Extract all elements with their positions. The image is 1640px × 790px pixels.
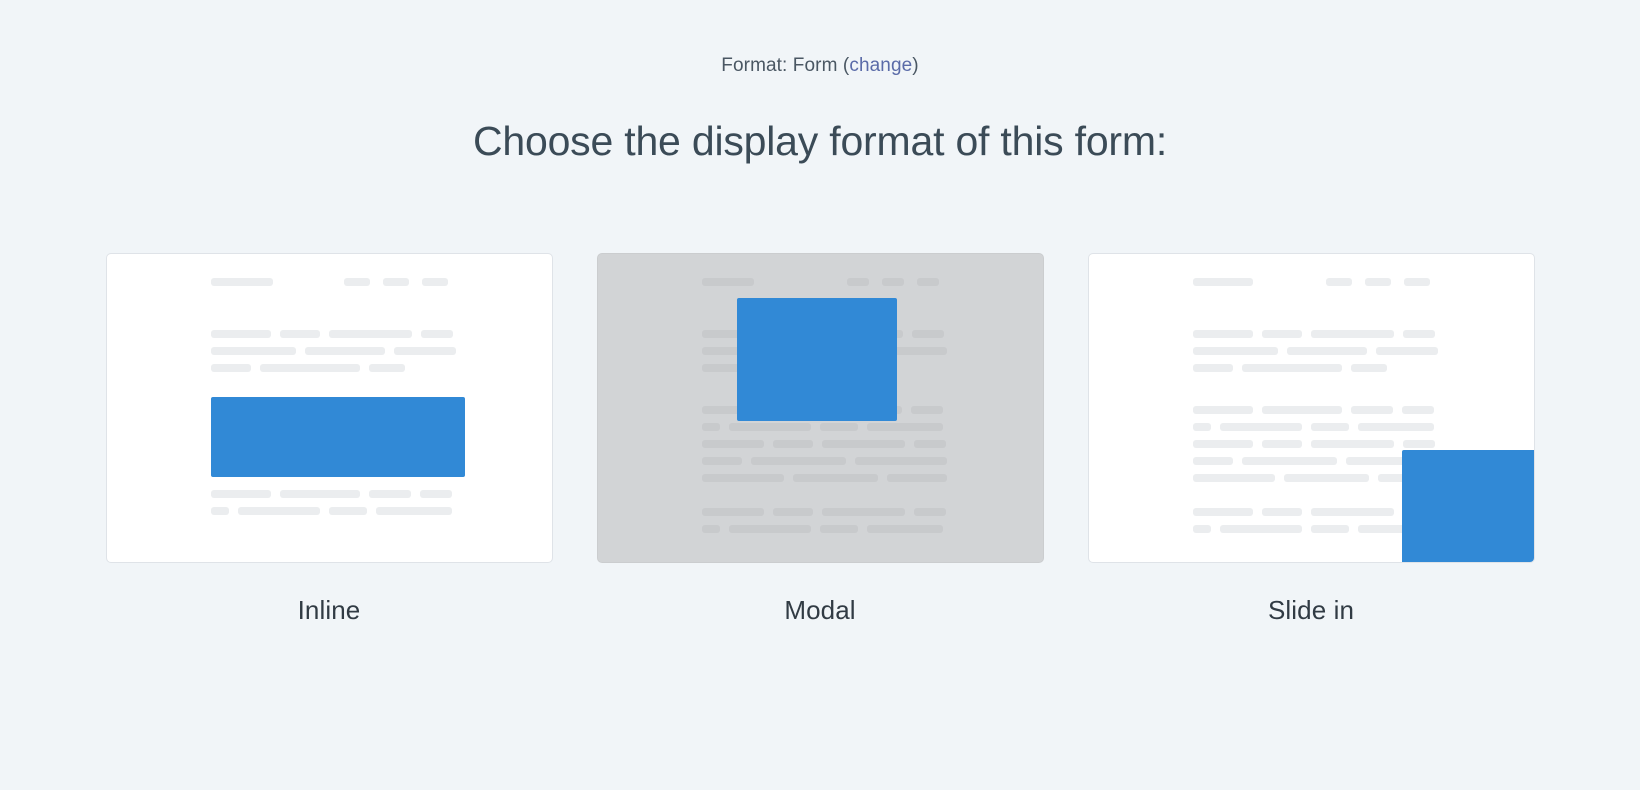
skeleton-bar (702, 525, 720, 533)
skeleton-bar (855, 457, 947, 465)
skeleton-bar (914, 440, 946, 448)
skeleton-bar (820, 423, 858, 431)
skeleton-bar (1326, 278, 1352, 286)
skeleton-bar (211, 507, 229, 515)
skeleton-bar (260, 364, 360, 372)
skeleton-bar (1358, 423, 1434, 431)
skeleton-line (107, 330, 552, 338)
skeleton-line (598, 423, 1043, 431)
slide-in-preview-thumbnail[interactable] (1088, 253, 1535, 563)
skeleton-bar (1193, 457, 1233, 465)
skeleton-bar (1403, 440, 1435, 448)
skeleton-bar (1287, 347, 1367, 355)
skeleton-bar (702, 423, 720, 431)
skeleton-bar (1193, 406, 1253, 414)
skeleton-bar (329, 507, 367, 515)
skeleton-paragraph (598, 508, 1043, 533)
skeleton-topbar (598, 278, 1043, 286)
skeleton-bar (867, 423, 943, 431)
skeleton-bar (1220, 525, 1302, 533)
skeleton-bar (1311, 508, 1394, 516)
skeleton-bar (751, 457, 846, 465)
format-options-list: Inline (0, 253, 1640, 626)
inline-form-block (211, 397, 465, 477)
skeleton-bar (1242, 364, 1342, 372)
skeleton-bar (1262, 440, 1302, 448)
skeleton-bar (1242, 457, 1337, 465)
format-prefix-text: Format: Form ( (721, 55, 849, 76)
skeleton-bar (702, 278, 754, 286)
option-label-inline: Inline (298, 595, 361, 626)
skeleton-line (598, 457, 1043, 465)
skeleton-logo-group (1193, 278, 1253, 286)
skeleton-bar (702, 508, 764, 516)
modal-form-block (737, 298, 897, 421)
skeleton-bar (394, 347, 456, 355)
skeleton-line (1089, 406, 1534, 414)
skeleton-paragraph (107, 330, 552, 372)
skeleton-nav-group (344, 278, 448, 286)
skeleton-line (1089, 440, 1534, 448)
skeleton-bar (1402, 406, 1434, 414)
slide-in-form-panel (1402, 450, 1535, 563)
format-suffix-text: ) (912, 55, 918, 76)
skeleton-bar (773, 440, 813, 448)
skeleton-bar (1351, 364, 1387, 372)
format-chooser-page: Format: Form (change) Choose the display… (0, 0, 1640, 790)
skeleton-bar (383, 278, 409, 286)
skeleton-bar (280, 330, 320, 338)
skeleton-bar (729, 525, 811, 533)
skeleton-line (1089, 364, 1534, 372)
skeleton-bar (1404, 278, 1430, 286)
skeleton-bar (422, 278, 448, 286)
skeleton-bar (211, 364, 251, 372)
skeleton-line (1089, 423, 1534, 431)
option-label-slide-in: Slide in (1268, 595, 1354, 626)
skeleton-bar (911, 406, 943, 414)
modal-preview-thumbnail[interactable] (597, 253, 1044, 563)
skeleton-bar (702, 364, 742, 372)
skeleton-bar (1193, 525, 1211, 533)
skeleton-bar (280, 490, 360, 498)
skeleton-bar (1262, 406, 1342, 414)
format-status-line: Format: Form (change) (0, 55, 1640, 77)
skeleton-bar (847, 278, 869, 286)
format-option-inline[interactable]: Inline (106, 253, 553, 626)
skeleton-bar (1193, 440, 1253, 448)
skeleton-topbar (1089, 278, 1534, 286)
skeleton-bar (1193, 423, 1211, 431)
skeleton-line (1089, 347, 1534, 355)
skeleton-bar (1376, 347, 1438, 355)
skeleton-bar (822, 508, 905, 516)
skeleton-bar (1284, 474, 1369, 482)
skeleton-line (598, 474, 1043, 482)
skeleton-bar (1193, 278, 1253, 286)
skeleton-bar (1193, 347, 1278, 355)
skeleton-bar (1311, 330, 1394, 338)
skeleton-bar (887, 474, 947, 482)
skeleton-bar (729, 423, 811, 431)
skeleton-bar (369, 490, 411, 498)
skeleton-bar (1193, 330, 1253, 338)
option-label-modal: Modal (784, 595, 855, 626)
skeleton-bar (305, 347, 385, 355)
skeleton-bar (917, 278, 939, 286)
skeleton-bar (822, 440, 905, 448)
skeleton-logo-group (702, 278, 754, 286)
skeleton-bar (820, 525, 858, 533)
skeleton-bar (211, 347, 296, 355)
skeleton-bar (344, 278, 370, 286)
skeleton-line (107, 347, 552, 355)
skeleton-bar (912, 330, 944, 338)
skeleton-bar (211, 330, 271, 338)
skeleton-bar (369, 364, 405, 372)
skeleton-bar (376, 507, 452, 515)
skeleton-bar (882, 278, 904, 286)
format-option-modal[interactable]: Modal (597, 253, 1044, 626)
skeleton-bar (1262, 330, 1302, 338)
skeleton-bar (793, 474, 878, 482)
inline-preview-thumbnail[interactable] (106, 253, 553, 563)
skeleton-line (107, 507, 552, 515)
page-title: Choose the display format of this form: (0, 118, 1640, 165)
skeleton-nav-group (847, 278, 939, 286)
skeleton-line (107, 490, 552, 498)
skeleton-bar (1351, 406, 1393, 414)
change-format-link[interactable]: change (849, 55, 912, 76)
skeleton-bar (1365, 278, 1391, 286)
skeleton-bar (773, 508, 813, 516)
skeleton-paragraph (1089, 330, 1534, 372)
skeleton-bar (1220, 423, 1302, 431)
skeleton-bar (211, 278, 273, 286)
skeleton-line (1089, 330, 1534, 338)
skeleton-bar (329, 330, 412, 338)
format-option-slide-in[interactable]: Slide in (1088, 253, 1535, 626)
skeleton-bar (867, 525, 943, 533)
skeleton-bar (1193, 508, 1253, 516)
skeleton-bar (702, 457, 742, 465)
skeleton-line (598, 525, 1043, 533)
skeleton-bar (1311, 525, 1349, 533)
skeleton-bar (1262, 508, 1302, 516)
skeleton-bar (1193, 364, 1233, 372)
skeleton-bar (421, 330, 453, 338)
skeleton-bar (914, 508, 946, 516)
skeleton-line (598, 508, 1043, 516)
skeleton-bar (1403, 330, 1435, 338)
skeleton-bar (238, 507, 320, 515)
skeleton-line (107, 364, 552, 372)
skeleton-bar (420, 490, 452, 498)
skeleton-line (598, 440, 1043, 448)
skeleton-logo-group (211, 278, 273, 286)
skeleton-bar (1311, 423, 1349, 431)
skeleton-nav-group (1326, 278, 1430, 286)
skeleton-topbar (107, 278, 552, 286)
skeleton-bar (702, 440, 764, 448)
skeleton-bar (1193, 474, 1275, 482)
skeleton-bar (1311, 440, 1394, 448)
skeleton-paragraph (107, 490, 552, 515)
skeleton-bar (702, 474, 784, 482)
skeleton-bar (211, 490, 271, 498)
